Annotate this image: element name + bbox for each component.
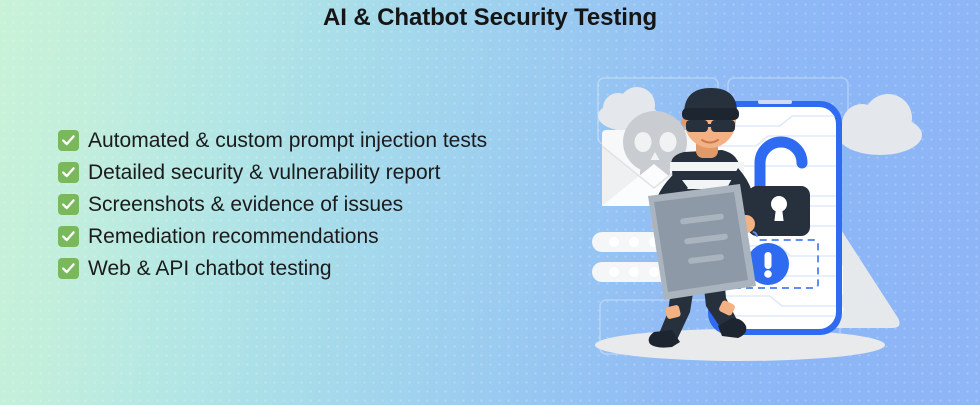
list-item: Web & API chatbot testing bbox=[58, 252, 487, 284]
check-icon bbox=[58, 258, 79, 279]
check-icon bbox=[58, 194, 79, 215]
check-icon bbox=[58, 130, 79, 151]
cloud-right bbox=[838, 94, 922, 155]
list-item: Detailed security & vulnerability report bbox=[58, 156, 487, 188]
feature-label: Detailed security & vulnerability report bbox=[88, 162, 441, 183]
feature-label: Automated & custom prompt injection test… bbox=[88, 130, 487, 151]
chatbot-security-illustration bbox=[580, 0, 980, 405]
list-item: Screenshots & evidence of issues bbox=[58, 188, 487, 220]
check-icon bbox=[58, 162, 79, 183]
feature-label: Remediation recommendations bbox=[88, 226, 379, 247]
list-item: Remediation recommendations bbox=[58, 220, 487, 252]
list-item: Automated & custom prompt injection test… bbox=[58, 124, 487, 156]
feature-label: Web & API chatbot testing bbox=[88, 258, 332, 279]
check-icon bbox=[58, 226, 79, 247]
feature-label: Screenshots & evidence of issues bbox=[88, 194, 403, 215]
security-testing-banner: AI & Chatbot Security Testing Automated … bbox=[0, 0, 980, 405]
briefcase-icon bbox=[648, 184, 756, 300]
feature-list: Automated & custom prompt injection test… bbox=[58, 124, 487, 284]
